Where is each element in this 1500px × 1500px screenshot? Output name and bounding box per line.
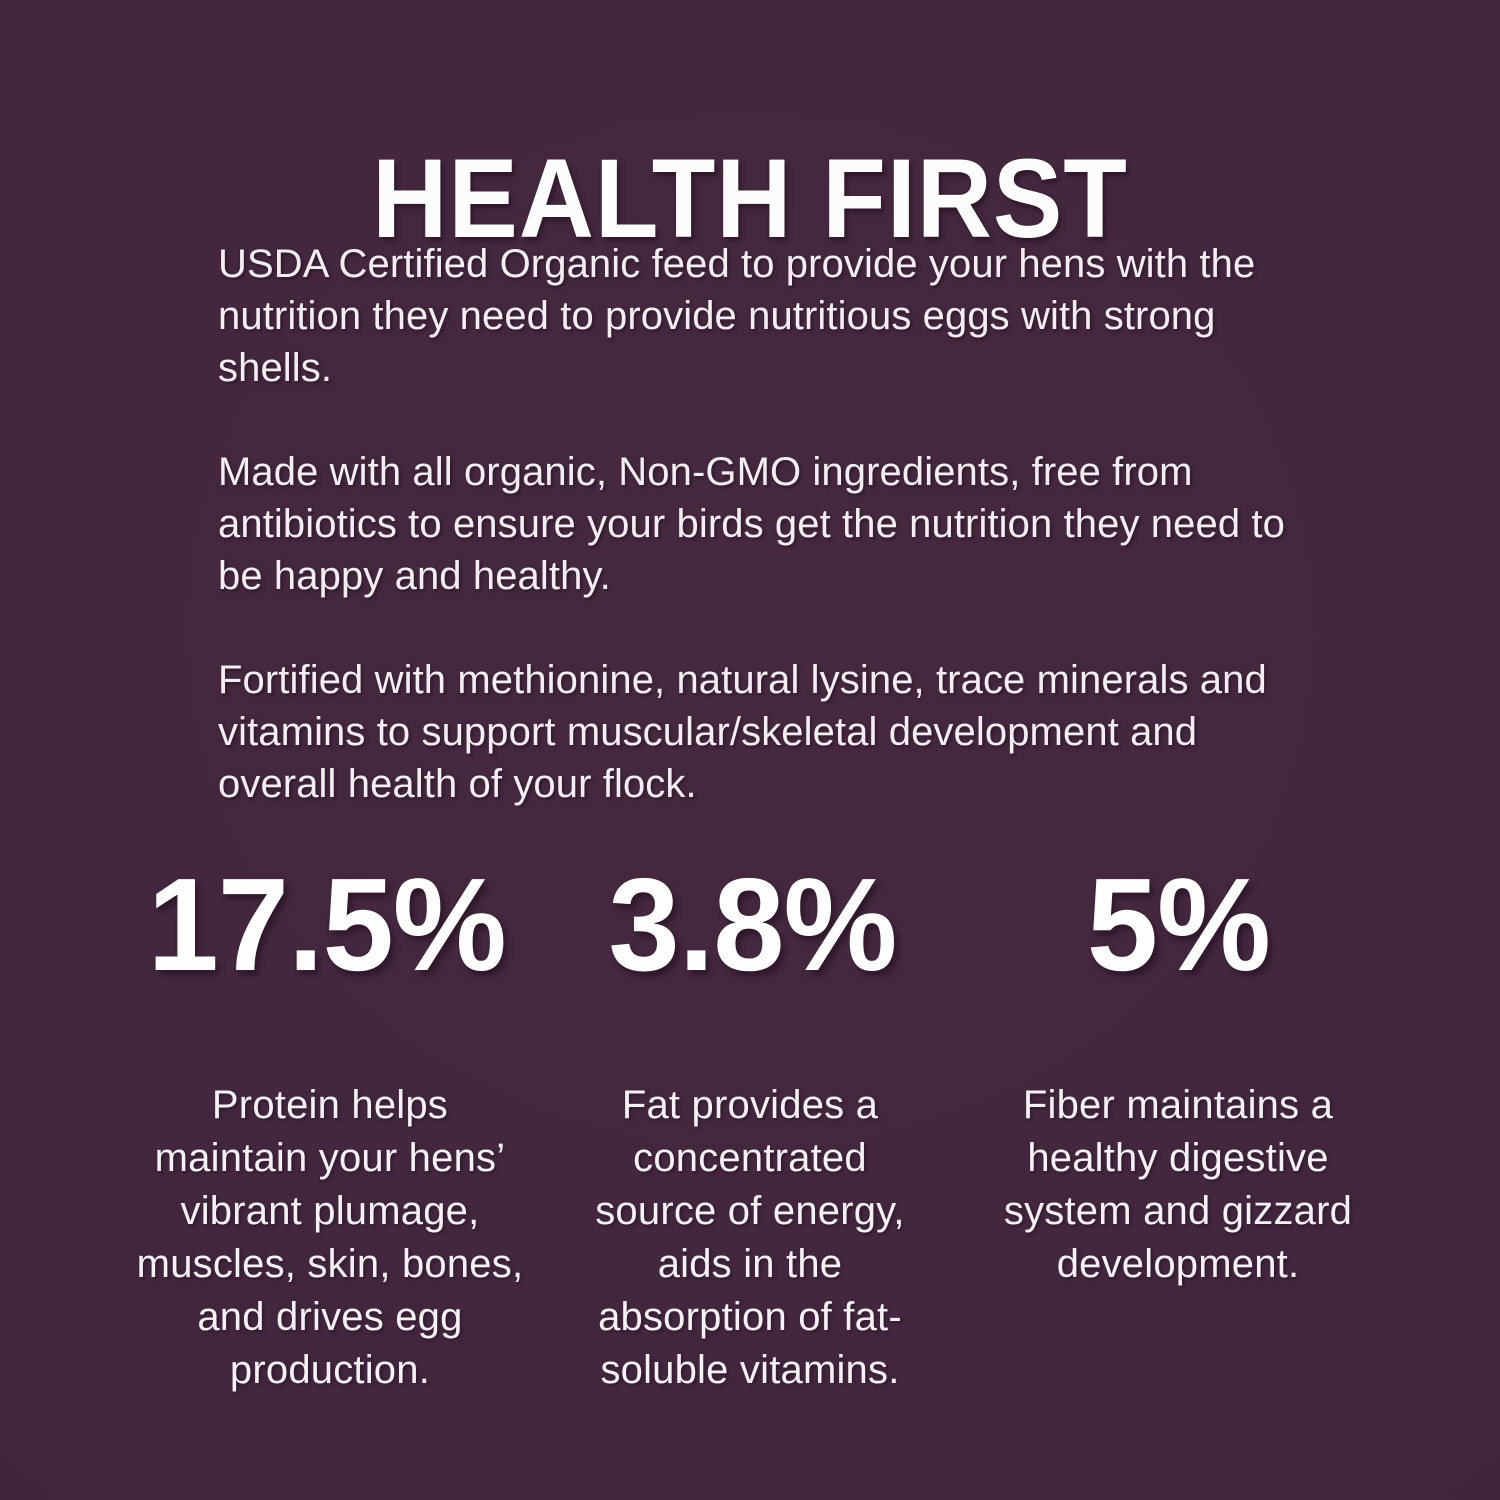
health-first-panel: HEALTH FIRST USDA Certified Organic feed…	[0, 0, 1500, 1500]
stat-value-fat: 3.8%	[608, 858, 896, 993]
stat-description-fat: Fat provides a concentrated source of en…	[585, 1079, 915, 1397]
intro-paragraph-3: Fortified with methionine, natural lysin…	[218, 654, 1308, 810]
intro-paragraph-1: USDA Certified Organic feed to provide y…	[218, 238, 1308, 394]
stat-value-protein: 17.5%	[148, 858, 506, 993]
nutrition-stats-row: 17.5% Protein helps maintain your hens’ …	[120, 858, 1380, 1397]
stat-description-protein: Protein helps maintain your hens’ vibran…	[130, 1079, 530, 1397]
stat-value-fiber: 5%	[1086, 858, 1269, 993]
stat-card-fiber: 5% Fiber maintains a healthy digestive s…	[960, 858, 1380, 1291]
stat-description-fiber: Fiber maintains a healthy digestive syst…	[983, 1079, 1373, 1291]
intro-paragraph-2: Made with all organic, Non-GMO ingredien…	[218, 446, 1308, 602]
intro-copy-block: USDA Certified Organic feed to provide y…	[218, 238, 1308, 810]
stat-card-fat: 3.8% Fat provides a concentrated source …	[540, 858, 960, 1397]
stat-card-protein: 17.5% Protein helps maintain your hens’ …	[120, 858, 540, 1397]
